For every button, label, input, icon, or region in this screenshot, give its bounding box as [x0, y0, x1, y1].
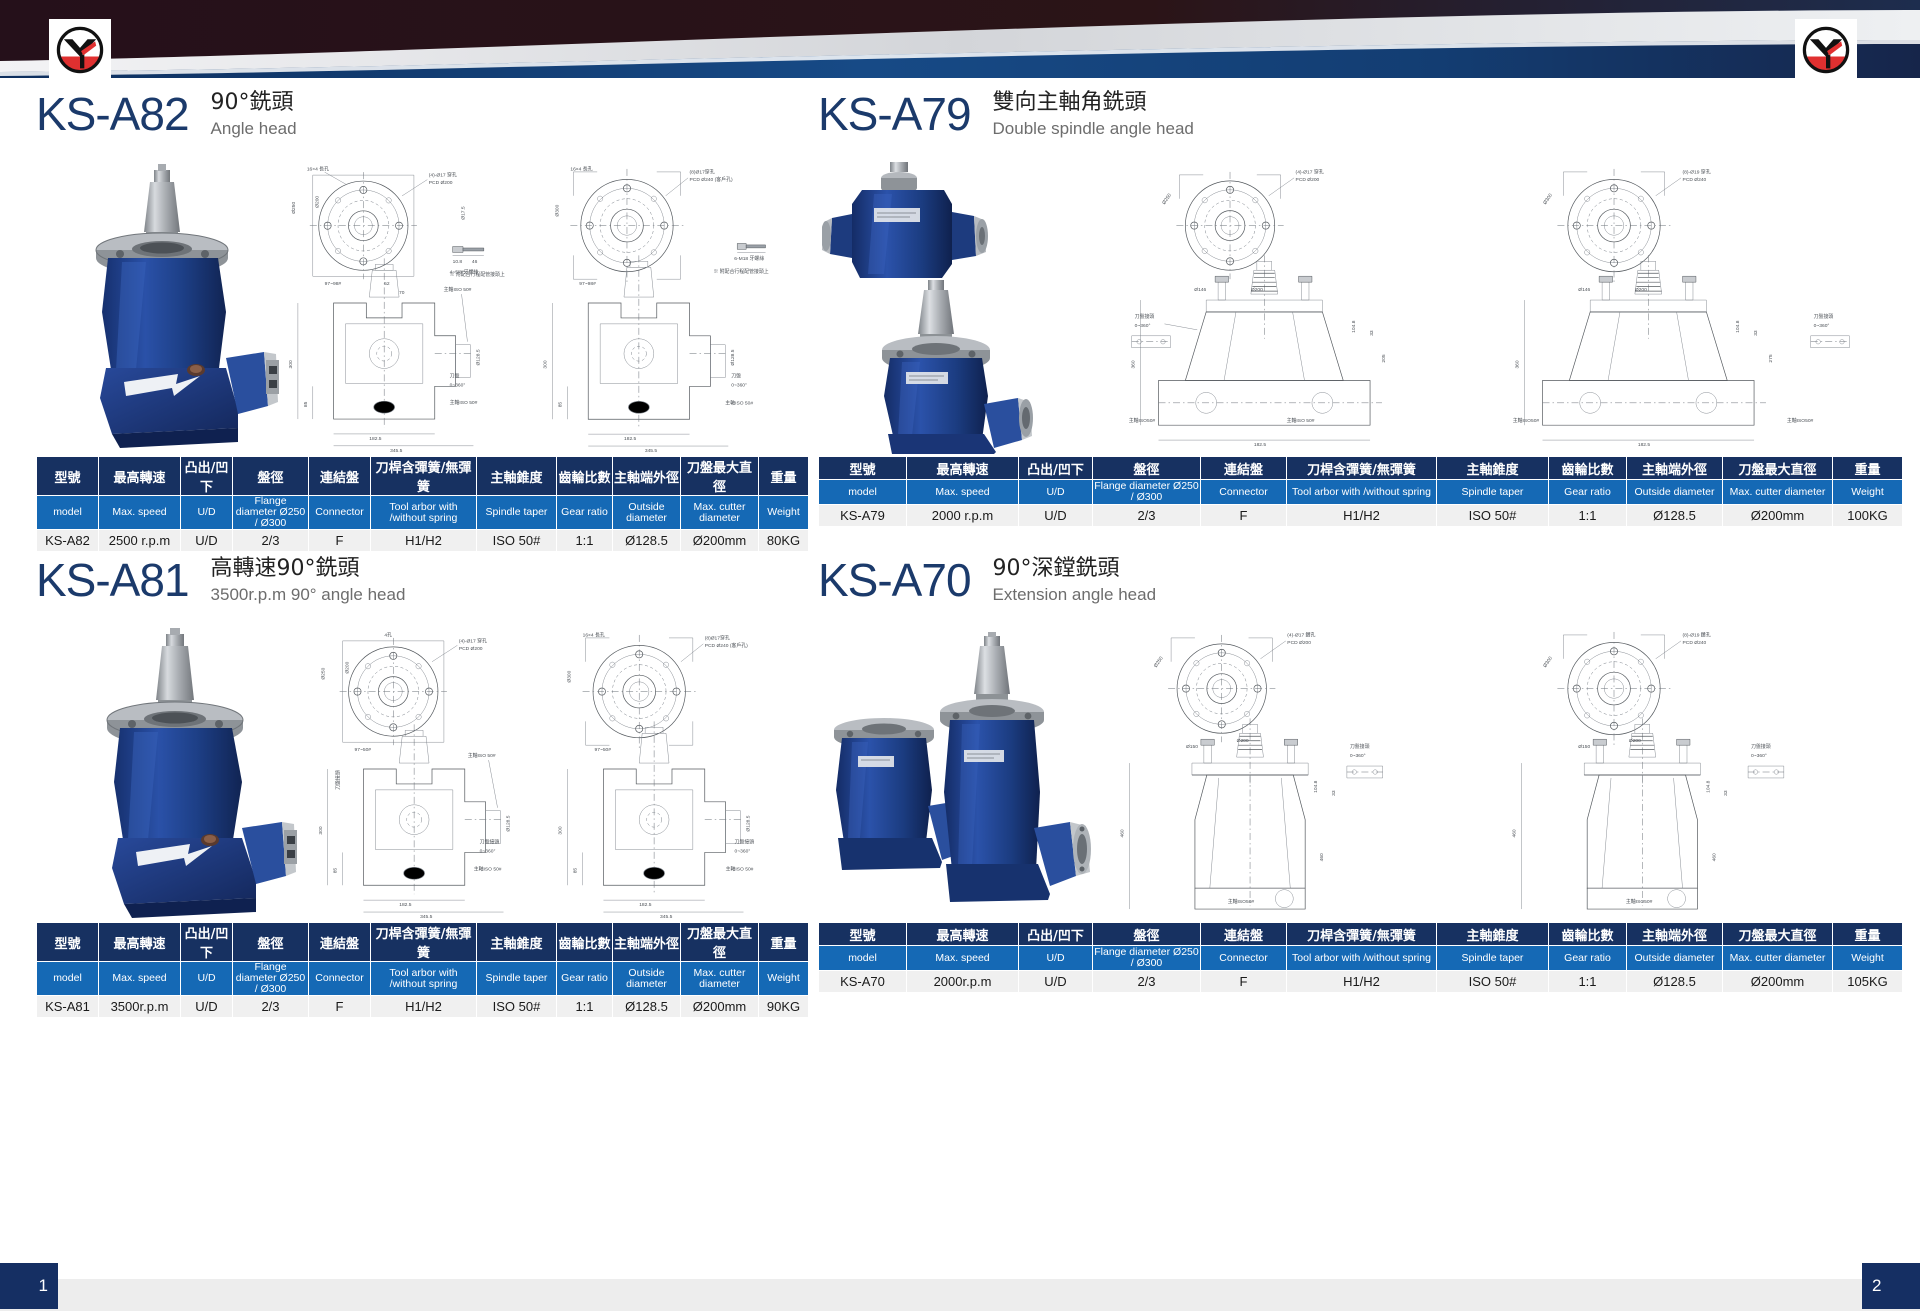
col-header-cn-outside-diameter: 主軸端外徑	[613, 923, 681, 962]
svg-text:33: 33	[1369, 330, 1375, 336]
spec-table-ks-a79: 型號 最高轉速 凸出/凹下 盤徑 連結盤 刀桿含彈簧/無彈簧 主軸錐度 齒輪比數…	[818, 456, 1903, 527]
col-header-en-tool-arbor: Tool arbor with /without spring	[1287, 946, 1437, 971]
table-header-row-cn: 型號 最高轉速 凸出/凹下 盤徑 連結盤 刀桿含彈簧/無彈簧 主軸錐度 齒輪比數…	[819, 923, 1903, 946]
svg-text:33: 33	[1723, 790, 1729, 796]
cell-outside-diameter: Ø128.5	[613, 530, 681, 552]
company-logo-left	[49, 19, 111, 81]
col-header-en-tool-arbor: Tool arbor with /without spring	[1287, 480, 1437, 505]
col-header-en-flange: Flange diameter Ø250 / Ø300	[233, 496, 309, 530]
col-header-en-max-speed: Max. speed	[907, 946, 1019, 971]
svg-text:460: 460	[1512, 829, 1518, 837]
technical-drawing-section-ks-a82: 16×4 長孔 (8)Ø17穿孔 PCD Ø240 (客戶孔) Ø300 6-M…	[528, 160, 790, 452]
col-header-en-model: model	[37, 962, 99, 996]
col-header-en-outside-diameter: Outside diameter	[1627, 480, 1723, 505]
svg-text:345.5: 345.5	[660, 914, 673, 918]
svg-text:0~360°: 0~360°	[480, 848, 496, 854]
svg-text:182.5: 182.5	[624, 436, 637, 442]
svg-text:85: 85	[333, 868, 339, 874]
col-header-cn-flange: 盤徑	[1093, 457, 1201, 480]
col-header-cn-max-speed: 最高轉速	[99, 923, 181, 962]
svg-text:10.8: 10.8	[453, 259, 463, 265]
svg-text:Ø128.5: Ø128.5	[505, 815, 511, 831]
cell-connector: F	[1201, 971, 1287, 993]
technical-drawing-section-ks-a81: 16×4 長孔 (8)Ø17穿孔 PCD Ø240 (客戶孔) Ø300	[546, 626, 792, 918]
cell-tool-arbor: H1/H2	[371, 530, 477, 552]
col-header-cn-weight: 重量	[759, 923, 809, 962]
svg-text:Ø146: Ø146	[1194, 287, 1206, 293]
svg-text:85: 85	[557, 402, 563, 408]
col-header-cn-flange: 盤徑	[233, 923, 309, 962]
col-header-cn-max-speed: 最高轉速	[907, 457, 1019, 480]
col-header-en-max-speed: Max. speed	[99, 496, 181, 530]
svg-text:Ø250: Ø250	[1153, 655, 1165, 668]
col-header-cn-outside-diameter: 主軸端外徑	[613, 457, 681, 496]
col-header-cn-model: 型號	[37, 923, 99, 962]
cell-outside-diameter: Ø128.5	[1627, 971, 1723, 993]
svg-text:Ø150: Ø150	[1186, 744, 1198, 750]
col-header-cn-connector: 連結盤	[309, 457, 371, 496]
col-header-cn-gear-ratio: 齒輪比數	[557, 923, 613, 962]
svg-text:300: 300	[558, 826, 564, 834]
col-header-en-tool-arbor: Tool arbor with /without spring	[371, 962, 477, 996]
col-header-en-spindle-taper: Spindle taper	[477, 962, 557, 996]
product-title-cn: 高轉速90°銑頭	[211, 556, 406, 582]
col-header-cn-spindle-taper: 主軸錐度	[477, 457, 557, 496]
cell-spindle-taper: ISO 50#	[477, 996, 557, 1018]
product-section-ks-a82: KS-A82 90°銑頭 Angle head	[36, 86, 796, 552]
col-header-en-ud: U/D	[1019, 480, 1093, 505]
cell-outside-diameter: Ø128.5	[613, 996, 681, 1018]
technical-drawing-section-ks-a70: (8)-Ø19 鑽孔 PCD Ø240 Ø300	[1496, 626, 1878, 918]
cell-weight: 90KG	[759, 996, 809, 1018]
svg-text:PCD Ø240: PCD Ø240	[1683, 640, 1707, 646]
col-header-cn-ud: 凸出/凹下	[181, 457, 233, 496]
cell-flange: 2/3	[1093, 505, 1201, 527]
svg-text:70: 70	[399, 290, 405, 296]
table-header-row-cn: 型號 最高轉速 凸出/凹下 盤徑 連結盤 刀桿含彈簧/無彈簧 主軸錐度 齒輪比數…	[819, 457, 1903, 480]
svg-text:Ø128.5: Ø128.5	[730, 349, 736, 365]
product-title-cn: 雙向主軸角銑頭	[993, 90, 1194, 116]
product-title-block: KS-A79 雙向主軸角銑頭 Double spindle angle head	[818, 86, 1884, 156]
cell-max-cutter: Ø200mm	[681, 996, 759, 1018]
table-header-row-cn: 型號 最高轉速 凸出/凹下 盤徑 連結盤 刀桿含彈簧/無彈簧 主軸錐度 齒輪比數…	[37, 457, 809, 496]
catalog-page: KS-A82 90°銑頭 Angle head	[0, 0, 1920, 1311]
svg-text:182.5: 182.5	[639, 902, 652, 908]
col-header-cn-model: 型號	[37, 457, 99, 496]
svg-text:460: 460	[1711, 853, 1717, 861]
col-header-en-connector: Connector	[309, 962, 371, 996]
table-row: KS-A79 2000 r.p.m U/D 2/3 F H1/H2 ISO 50…	[819, 505, 1903, 527]
col-header-cn-weight: 重量	[1833, 457, 1903, 480]
svg-text:刀盤接頭: 刀盤接頭	[335, 770, 342, 790]
svg-text:275: 275	[1768, 354, 1774, 362]
svg-text:Ø150: Ø150	[1578, 744, 1590, 750]
svg-text:主軸ISO 50#: 主軸ISO 50#	[444, 286, 472, 293]
technical-drawing-section-ks-a79: (8)-Ø19 穿孔 PCD Ø240 Ø300	[1502, 160, 1878, 452]
svg-text:4孔: 4孔	[384, 631, 392, 638]
product-title-en: 3500r.p.m 90° angle head	[211, 584, 406, 606]
col-header-en-spindle-taper: Spindle taper	[1437, 946, 1549, 971]
company-logo-right	[1795, 19, 1857, 81]
col-header-en-weight: Weight	[1833, 480, 1903, 505]
svg-text:460: 460	[1119, 829, 1125, 837]
svg-text:345.5: 345.5	[420, 914, 433, 918]
cell-weight: 100KG	[1833, 505, 1903, 527]
cell-gear-ratio: 1:1	[1549, 505, 1627, 527]
svg-text:※ 附配合行程配管接頭上: ※ 附配合行程配管接頭上	[450, 271, 505, 278]
col-header-cn-max-cutter: 刀盤最大直徑	[681, 923, 759, 962]
col-header-cn-max-speed: 最高轉速	[907, 923, 1019, 946]
col-header-en-max-cutter: Max. cutter diameter	[681, 496, 759, 530]
cell-max-speed: 3500r.p.m	[99, 996, 181, 1018]
svg-text:(8)-Ø19 鑽孔: (8)-Ø19 鑽孔	[1683, 631, 1711, 638]
col-header-cn-gear-ratio: 齒輪比數	[557, 457, 613, 496]
product-title-block: KS-A82 90°銑頭 Angle head	[36, 86, 796, 156]
col-header-en-flange: Flange diameter Ø250 / Ø300	[1093, 946, 1201, 971]
svg-text:主軸ISO50#: 主軸ISO50#	[1129, 417, 1156, 424]
product-photo-ks-a79	[822, 156, 1112, 456]
col-header-cn-model: 型號	[819, 457, 907, 480]
svg-text:Ø250: Ø250	[321, 667, 327, 679]
spec-table-ks-a81: 型號 最高轉速 凸出/凹下 盤徑 連結盤 刀桿含彈簧/無彈簧 主軸錐度 齒輪比數…	[36, 922, 809, 1018]
svg-text:0~360°: 0~360°	[450, 382, 466, 388]
svg-text:主軸ISO 50#: 主軸ISO 50#	[474, 865, 502, 872]
col-header-cn-connector: 連結盤	[1201, 923, 1287, 946]
table-header-row-en: model Max. speed U/D Flange diameter Ø25…	[819, 946, 1903, 971]
svg-text:刀盤接頭: 刀盤接頭	[1814, 313, 1834, 320]
col-header-cn-flange: 盤徑	[233, 457, 309, 496]
col-header-en-ud: U/D	[1019, 946, 1093, 971]
svg-text:182.5: 182.5	[1638, 442, 1651, 448]
col-header-cn-gear-ratio: 齒輪比數	[1549, 923, 1627, 946]
svg-text:主軸ISO 50#: 主軸ISO 50#	[725, 399, 753, 406]
svg-text:PCD Ø240 (客戶孔): PCD Ø240 (客戶孔)	[705, 642, 748, 649]
col-header-en-ud: U/D	[181, 962, 233, 996]
product-photo-ks-a70	[822, 632, 1092, 922]
svg-text:0~360°: 0~360°	[1350, 753, 1366, 759]
svg-text:(4)-Ø17 穿孔: (4)-Ø17 穿孔	[429, 172, 457, 179]
product-model-heading: KS-A82	[36, 86, 189, 142]
svg-text:主軸ISO50#: 主軸ISO50#	[1787, 417, 1814, 424]
page-number-right: 2	[1862, 1263, 1920, 1309]
svg-text:Ø17.5: Ø17.5	[461, 206, 467, 220]
col-header-en-model: model	[37, 496, 99, 530]
col-header-cn-weight: 重量	[1833, 923, 1903, 946]
cell-flange: 2/3	[233, 530, 309, 552]
svg-text:主軸ISO 50#: 主軸ISO 50#	[1287, 417, 1315, 424]
cell-spindle-taper: ISO 50#	[1437, 971, 1549, 993]
svg-text:(4)-Ø17 穿孔: (4)-Ø17 穿孔	[459, 637, 487, 644]
svg-text:300: 300	[318, 826, 324, 834]
cell-ud: U/D	[1019, 971, 1093, 993]
product-title-cn: 90°銑頭	[211, 90, 297, 116]
col-header-en-tool-arbor: Tool arbor with /without spring	[371, 496, 477, 530]
svg-text:Ø250: Ø250	[291, 202, 297, 214]
svg-text:33: 33	[1753, 330, 1759, 336]
svg-text:300: 300	[288, 360, 294, 368]
cell-gear-ratio: 1:1	[557, 996, 613, 1018]
cell-gear-ratio: 1:1	[1549, 971, 1627, 993]
col-header-en-model: model	[819, 480, 907, 505]
product-section-ks-a70: KS-A70 90°深鏜銑頭 Extension angle head	[818, 552, 1884, 993]
table-row: KS-A82 2500 r.p.m U/D 2/3 F H1/H2 ISO 50…	[37, 530, 809, 552]
product-model-heading: KS-A81	[36, 552, 189, 608]
svg-text:PCD Ø200: PCD Ø200	[429, 180, 453, 186]
svg-text:Ø128.5: Ø128.5	[745, 815, 751, 831]
svg-text:360: 360	[1515, 360, 1521, 368]
svg-text:(4)-Ø17 鑽孔: (4)-Ø17 鑽孔	[1287, 631, 1315, 638]
svg-text:PCD Ø240 (客戶孔): PCD Ø240 (客戶孔)	[690, 176, 733, 183]
svg-text:0~360°: 0~360°	[1135, 323, 1151, 329]
col-header-en-flange: Flange diameter Ø250 / Ø300	[1093, 480, 1201, 505]
col-header-en-spindle-taper: Spindle taper	[477, 496, 557, 530]
col-header-en-connector: Connector	[1201, 480, 1287, 505]
cell-ud: U/D	[181, 530, 233, 552]
col-header-cn-max-cutter: 刀盤最大直徑	[1723, 457, 1833, 480]
cell-max-cutter: Ø200mm	[681, 530, 759, 552]
cell-weight: 80KG	[759, 530, 809, 552]
col-header-en-connector: Connector	[1201, 946, 1287, 971]
svg-text:(4)-Ø17 穿孔: (4)-Ø17 穿孔	[1296, 168, 1324, 175]
table-header-row-en: model Max. speed U/D Flange diameter Ø25…	[37, 962, 809, 996]
svg-text:97~50#: 97~50#	[355, 747, 372, 753]
col-header-en-gear-ratio: Gear ratio	[557, 496, 613, 530]
col-header-cn-connector: 連結盤	[1201, 457, 1287, 480]
svg-text:0~360°: 0~360°	[1751, 753, 1767, 759]
table-header-row-en: model Max. speed U/D Flange diameter Ø25…	[819, 480, 1903, 505]
svg-text:Ø200: Ø200	[345, 661, 351, 673]
col-header-en-outside-diameter: Outside diameter	[1627, 946, 1723, 971]
table-header-row-en: model Max. speed U/D Flange diameter Ø25…	[37, 496, 809, 530]
col-header-cn-ud: 凸出/凹下	[1019, 457, 1093, 480]
svg-text:PCD Ø240: PCD Ø240	[1683, 177, 1707, 183]
cell-model: KS-A70	[819, 971, 907, 993]
col-header-en-max-speed: Max. speed	[99, 962, 181, 996]
svg-text:主軸ISO50#: 主軸ISO50#	[1513, 417, 1540, 424]
col-header-en-weight: Weight	[759, 962, 809, 996]
col-header-cn-flange: 盤徑	[1093, 923, 1201, 946]
svg-text:Ø250: Ø250	[1161, 192, 1173, 205]
svg-text:Ø200: Ø200	[1635, 287, 1647, 293]
svg-text:104.8: 104.8	[1735, 320, 1741, 333]
cell-ud: U/D	[181, 996, 233, 1018]
svg-text:52: 52	[384, 281, 390, 287]
col-header-en-flange: Flange diameter Ø250 / Ø300	[233, 962, 309, 996]
product-title-en: Extension angle head	[993, 584, 1157, 606]
svg-text:97~98#: 97~98#	[325, 281, 342, 287]
col-header-en-max-cutter: Max. cutter diameter	[681, 962, 759, 996]
svg-text:97~50#: 97~50#	[595, 747, 612, 753]
svg-text:Ø200: Ø200	[1629, 738, 1641, 744]
product-title-en: Double spindle angle head	[993, 118, 1194, 140]
col-header-cn-tool-arbor: 刀桿含彈簧/無彈簧	[371, 923, 477, 962]
page-number-left: 1	[0, 1263, 58, 1309]
svg-text:0~360°: 0~360°	[735, 848, 751, 854]
col-header-en-max-cutter: Max. cutter diameter	[1723, 480, 1833, 505]
svg-text:主軸ISO 50#: 主軸ISO 50#	[468, 752, 496, 759]
cell-flange: 2/3	[1093, 971, 1201, 993]
svg-text:主軸ISO50#: 主軸ISO50#	[1228, 898, 1255, 905]
svg-text:0~360°: 0~360°	[1814, 323, 1830, 329]
cell-tool-arbor: H1/H2	[1287, 505, 1437, 527]
svg-text:(8)Ø17穿孔: (8)Ø17穿孔	[705, 634, 730, 641]
svg-text:刀盤: 刀盤	[450, 372, 460, 379]
col-header-en-connector: Connector	[309, 496, 371, 530]
cell-model: KS-A81	[37, 996, 99, 1018]
col-header-en-outside-diameter: Outside diameter	[613, 496, 681, 530]
svg-text:104.8: 104.8	[1705, 780, 1711, 793]
col-header-en-ud: U/D	[181, 496, 233, 530]
header-banner	[0, 0, 1920, 84]
col-header-cn-tool-arbor: 刀桿含彈簧/無彈簧	[1287, 923, 1437, 946]
svg-text:360: 360	[1131, 360, 1137, 368]
product-title-cn: 90°深鏜銑頭	[993, 556, 1157, 582]
svg-text:85: 85	[573, 868, 579, 874]
svg-text:85: 85	[303, 401, 309, 407]
cell-connector: F	[309, 996, 371, 1018]
col-header-en-gear-ratio: Gear ratio	[1549, 480, 1627, 505]
svg-text:Ø300: Ø300	[1542, 655, 1554, 668]
col-header-cn-connector: 連結盤	[309, 923, 371, 962]
cell-tool-arbor: H1/H2	[371, 996, 477, 1018]
company-logo-icon	[53, 23, 107, 77]
svg-text:182.5: 182.5	[399, 902, 412, 908]
technical-drawing-front-ks-a81: 4孔 (4)-Ø17 穿孔 PCD Ø200 Ø250 Ø200	[312, 626, 552, 918]
col-header-cn-spindle-taper: 主軸錐度	[1437, 923, 1549, 946]
cell-outside-diameter: Ø128.5	[1627, 505, 1723, 527]
svg-text:主軸ISO 50#: 主軸ISO 50#	[450, 399, 478, 406]
svg-text:205: 205	[1381, 354, 1387, 362]
col-header-en-max-cutter: Max. cutter diameter	[1723, 946, 1833, 971]
svg-text:104.8: 104.8	[1313, 780, 1319, 793]
product-title-en: Angle head	[211, 118, 297, 140]
svg-text:刀盤接頭: 刀盤接頭	[1350, 743, 1370, 750]
svg-text:刀盤接頭: 刀盤接頭	[480, 839, 500, 846]
col-header-en-outside-diameter: Outside diameter	[613, 962, 681, 996]
svg-text:16×4 長孔: 16×4 長孔	[307, 166, 329, 173]
col-header-en-gear-ratio: Gear ratio	[1549, 946, 1627, 971]
technical-drawing-front-ks-a79: (4)-Ø17 穿孔 PCD Ø200 Ø250	[1118, 160, 1494, 452]
svg-text:Ø146: Ø146	[1578, 287, 1590, 293]
svg-text:6-M18 牙螺絲: 6-M18 牙螺絲	[734, 255, 764, 262]
cell-flange: 2/3	[233, 996, 309, 1018]
col-header-cn-spindle-taper: 主軸錐度	[1437, 457, 1549, 480]
svg-text:主軸ISO50#: 主軸ISO50#	[1626, 898, 1653, 905]
cell-model: KS-A82	[37, 530, 99, 552]
svg-text:460: 460	[1319, 853, 1325, 861]
svg-text:16×4 長孔: 16×4 長孔	[570, 165, 592, 172]
page-footer: 1 2	[0, 1259, 1920, 1311]
table-row: KS-A70 2000r.p.m U/D 2/3 F H1/H2 ISO 50#…	[819, 971, 1903, 993]
technical-drawing-front-ks-a82: 16×4 長孔 (4)-Ø17 穿孔 PCD Ø200 Ø250 Ø200 10…	[286, 160, 524, 452]
technical-drawing-front-ks-a70: (4)-Ø17 鑽孔 PCD Ø200 Ø250	[1104, 626, 1484, 918]
svg-text:97~98#: 97~98#	[579, 281, 596, 287]
svg-text:Ø300: Ø300	[554, 204, 560, 216]
svg-text:Ø200: Ø200	[315, 196, 321, 208]
product-photo-ks-a82	[50, 162, 280, 452]
svg-text:主軸ISO 50#: 主軸ISO 50#	[726, 865, 754, 872]
svg-text:104.8: 104.8	[1351, 320, 1357, 333]
cell-tool-arbor: H1/H2	[1287, 971, 1437, 993]
svg-text:PCD Ø200: PCD Ø200	[459, 646, 483, 652]
spec-table-ks-a70: 型號 最高轉速 凸出/凹下 盤徑 連結盤 刀桿含彈簧/無彈簧 主軸錐度 齒輪比數…	[818, 922, 1903, 993]
product-title-block: KS-A70 90°深鏜銑頭 Extension angle head	[818, 552, 1884, 622]
svg-text:300: 300	[543, 360, 549, 368]
svg-text:刀盤接頭: 刀盤接頭	[1135, 313, 1155, 320]
col-header-cn-tool-arbor: 刀桿含彈簧/無彈簧	[1287, 457, 1437, 480]
col-header-cn-model: 型號	[819, 923, 907, 946]
cell-max-cutter: Ø200mm	[1723, 971, 1833, 993]
col-header-cn-outside-diameter: 主軸端外徑	[1627, 923, 1723, 946]
svg-text:345.5: 345.5	[390, 448, 403, 452]
cell-gear-ratio: 1:1	[557, 530, 613, 552]
table-row: KS-A81 3500r.p.m U/D 2/3 F H1/H2 ISO 50#…	[37, 996, 809, 1018]
cell-max-speed: 2000r.p.m	[907, 971, 1019, 993]
svg-text:345.5: 345.5	[645, 448, 658, 452]
svg-text:刀盤接頭: 刀盤接頭	[1751, 743, 1771, 750]
cell-max-speed: 2500 r.p.m	[99, 530, 181, 552]
company-logo-icon	[1799, 23, 1853, 77]
cell-connector: F	[309, 530, 371, 552]
svg-text:(8)-Ø19 穿孔: (8)-Ø19 穿孔	[1683, 168, 1711, 175]
col-header-cn-spindle-taper: 主軸錐度	[477, 923, 557, 962]
svg-text:Ø200: Ø200	[1237, 738, 1249, 744]
col-header-en-gear-ratio: Gear ratio	[557, 962, 613, 996]
svg-text:(8)Ø17穿孔: (8)Ø17穿孔	[690, 168, 715, 175]
svg-text:Ø300: Ø300	[567, 670, 573, 682]
cell-spindle-taper: ISO 50#	[477, 530, 557, 552]
product-model-heading: KS-A70	[818, 552, 971, 608]
cell-spindle-taper: ISO 50#	[1437, 505, 1549, 527]
col-header-cn-weight: 重量	[759, 457, 809, 496]
svg-text:46: 46	[472, 259, 478, 265]
svg-text:16×4 長孔: 16×4 長孔	[583, 631, 605, 638]
svg-text:Ø200: Ø200	[1251, 287, 1263, 293]
cell-connector: F	[1201, 505, 1287, 527]
cell-max-cutter: Ø200mm	[1723, 505, 1833, 527]
svg-text:刀盤: 刀盤	[731, 373, 741, 380]
svg-text:PCD Ø200: PCD Ø200	[1296, 177, 1320, 183]
svg-text:Ø128.5: Ø128.5	[475, 349, 481, 365]
col-header-en-max-speed: Max. speed	[907, 480, 1019, 505]
svg-text:182.5: 182.5	[369, 436, 382, 442]
col-header-en-model: model	[819, 946, 907, 971]
col-header-cn-max-cutter: 刀盤最大直徑	[681, 457, 759, 496]
cell-model: KS-A79	[819, 505, 907, 527]
svg-text:0~360°: 0~360°	[731, 382, 747, 388]
product-section-ks-a81: KS-A81 高轉速90°銑頭 3500r.p.m 90° angle head	[36, 552, 796, 1018]
col-header-cn-max-cutter: 刀盤最大直徑	[1723, 923, 1833, 946]
col-header-cn-ud: 凸出/凹下	[1019, 923, 1093, 946]
product-section-ks-a79: KS-A79 雙向主軸角銑頭 Double spindle angle head	[818, 86, 1884, 527]
col-header-cn-outside-diameter: 主軸端外徑	[1627, 457, 1723, 480]
col-header-cn-gear-ratio: 齒輪比數	[1549, 457, 1627, 480]
col-header-en-weight: Weight	[759, 496, 809, 530]
svg-text:182.5: 182.5	[1254, 442, 1267, 448]
footer-bar	[0, 1279, 1920, 1311]
col-header-cn-tool-arbor: 刀桿含彈簧/無彈簧	[371, 457, 477, 496]
product-title-block: KS-A81 高轉速90°銑頭 3500r.p.m 90° angle head	[36, 552, 796, 622]
product-photo-ks-a81	[66, 628, 306, 920]
spec-table-ks-a82: 型號 最高轉速 凸出/凹下 盤徑 連結盤 刀桿含彈簧/無彈簧 主軸錐度 齒輪比數…	[36, 456, 809, 552]
svg-text:刀盤接頭: 刀盤接頭	[735, 839, 755, 846]
cell-ud: U/D	[1019, 505, 1093, 527]
svg-text:PCD Ø200: PCD Ø200	[1287, 640, 1311, 646]
col-header-en-spindle-taper: Spindle taper	[1437, 480, 1549, 505]
col-header-en-weight: Weight	[1833, 946, 1903, 971]
svg-text:※ 附配合行程配管接頭上: ※ 附配合行程配管接頭上	[713, 268, 768, 275]
cell-weight: 105KG	[1833, 971, 1903, 993]
